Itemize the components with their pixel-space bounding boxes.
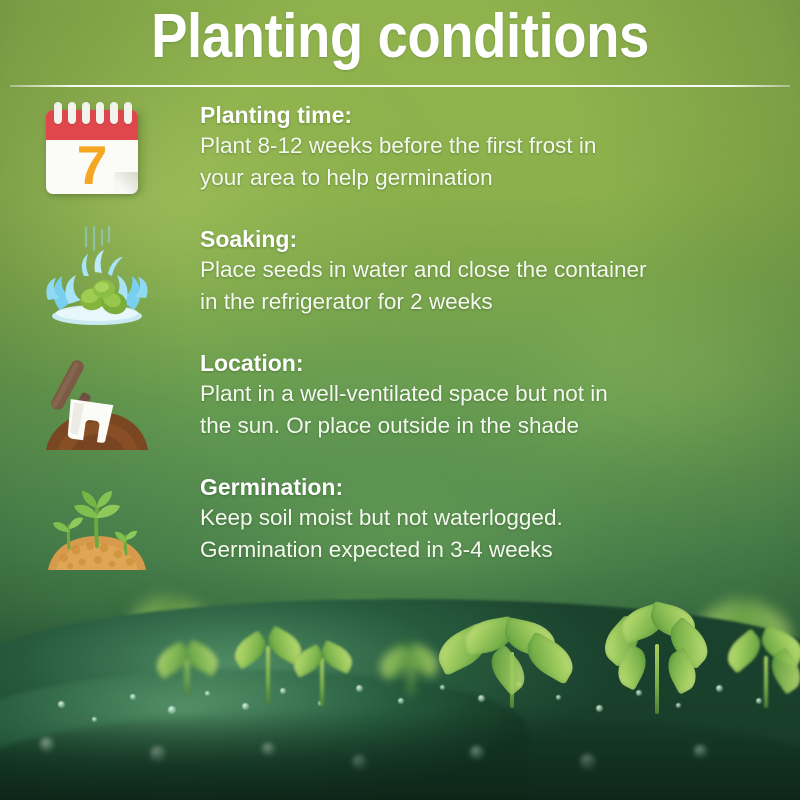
section-body-line: Germination expected in 3-4 weeks <box>200 534 796 566</box>
shovel-in-soil-icon <box>38 350 156 455</box>
section-row-location: Location: Plant in a well-ventilated spa… <box>0 348 800 472</box>
section-body-line: Keep soil moist but not waterlogged. <box>200 502 796 534</box>
section-heading: Soaking: <box>200 224 796 254</box>
calendar-ring <box>124 102 132 124</box>
section-body-line: Plant 8-12 weeks before the first frost … <box>200 130 796 162</box>
calendar-ring <box>54 102 62 124</box>
icon-cell <box>0 224 200 344</box>
section-heading: Planting time: <box>200 100 796 130</box>
section-row-soaking: Soaking: Place seeds in water and close … <box>0 224 800 348</box>
section-heading: Location: <box>200 348 796 378</box>
section-text: Planting time: Plant 8-12 weeks before t… <box>200 100 800 194</box>
section-row-germination: Germination: Keep soil moist but not wat… <box>0 472 800 596</box>
calendar-glyph: 7 <box>46 102 138 194</box>
water-splash-seeds-icon <box>38 226 156 331</box>
shovel-glyph <box>38 350 156 455</box>
calendar-ring <box>68 102 76 124</box>
dew-drop <box>398 698 404 704</box>
dew-drop <box>92 717 97 722</box>
foreground-sprout <box>236 626 300 704</box>
dew-drop <box>130 694 136 700</box>
foreground-sprout <box>726 622 800 708</box>
calendar-ring <box>82 102 90 124</box>
dew-drop <box>242 703 249 710</box>
page-title: Planting conditions <box>48 4 752 70</box>
calendar-ring <box>110 102 118 124</box>
icon-cell <box>0 472 200 592</box>
section-body-line: in the refrigerator for 2 weeks <box>200 286 796 318</box>
foreground-sprout <box>376 636 446 696</box>
section-text: Soaking: Place seeds in water and close … <box>200 224 800 318</box>
section-body-line: Place seeds in water and close the conta… <box>200 254 796 286</box>
foreground-sprout <box>452 612 572 708</box>
icon-cell <box>0 348 200 468</box>
title-divider <box>10 85 790 87</box>
calendar-day-number: 7 <box>46 136 138 194</box>
section-body-line: your area to help germination <box>200 162 796 194</box>
calendar-icon: 7 <box>38 102 156 207</box>
seedlings-in-soil-icon <box>38 474 156 579</box>
section-text: Germination: Keep soil moist but not wat… <box>200 472 800 566</box>
seedlings-glyph <box>38 474 156 579</box>
section-text: Location: Plant in a well-ventilated spa… <box>200 348 800 442</box>
dew-drop <box>58 701 65 708</box>
section-body-line: Plant in a well-ventilated space but not… <box>200 378 796 410</box>
section-heading: Germination: <box>200 472 796 502</box>
sections-list: 7 Planting time: Plant 8-12 weeks before… <box>0 100 800 596</box>
dew-drop <box>356 685 363 692</box>
foreground-sprout <box>292 636 352 706</box>
icon-cell: 7 <box>0 100 200 220</box>
dew-drop <box>168 706 176 714</box>
section-body-line: the sun. Or place outside in the shade <box>200 410 796 442</box>
foreground-sprout <box>592 594 722 714</box>
foreground-sprout <box>152 634 222 696</box>
calendar-ring <box>96 102 104 124</box>
water-splash-glyph <box>38 226 156 331</box>
section-row-planting-time: 7 Planting time: Plant 8-12 weeks before… <box>0 100 800 224</box>
planting-conditions-infographic: Planting conditions <box>0 0 800 800</box>
